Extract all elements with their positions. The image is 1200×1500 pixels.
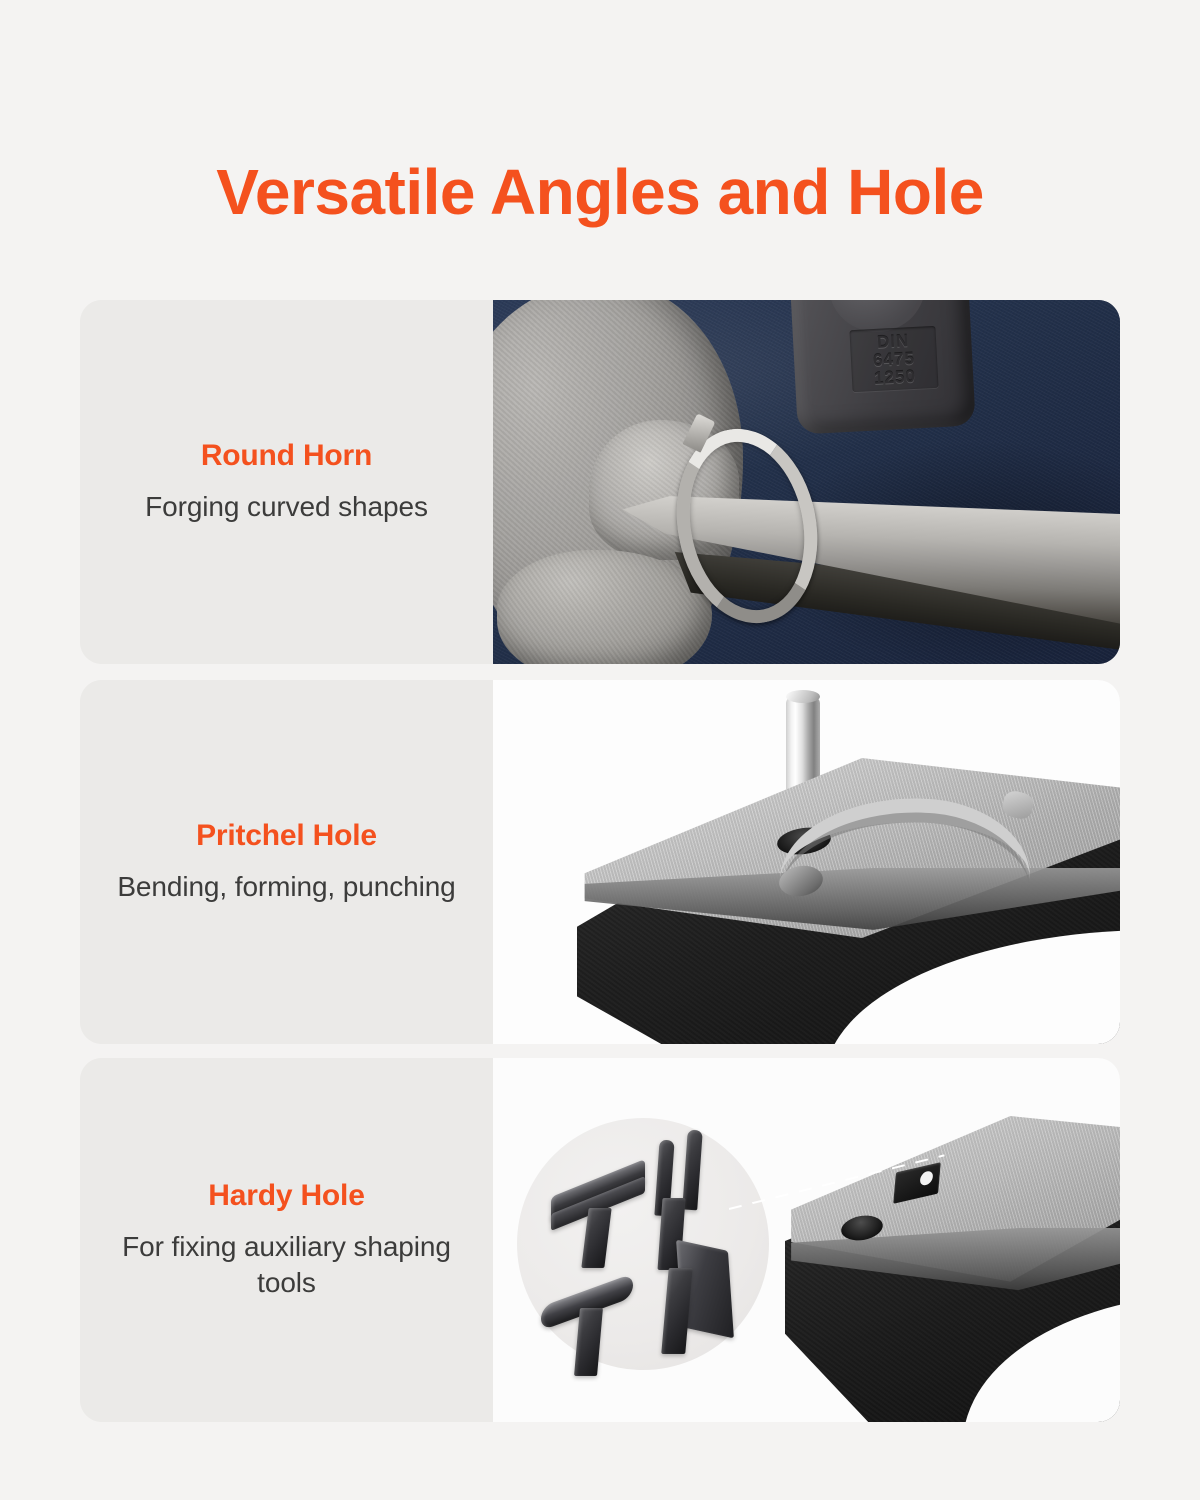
hardy-hole-photo: [493, 1058, 1120, 1422]
pritchel-hole-photo: [493, 680, 1120, 1044]
feature-card-pritchel-hole: Pritchel Hole Bending, forming, punching: [80, 680, 1120, 1044]
hammer-stamp-line-3: 1250: [874, 367, 917, 386]
card-text-round-horn: Round Horn Forging curved shapes: [80, 300, 493, 664]
card-description-round-horn: Forging curved shapes: [145, 489, 428, 525]
card-text-pritchel-hole: Pritchel Hole Bending, forming, punching: [80, 680, 493, 1044]
card-text-hardy-hole: Hardy Hole For fixing auxiliary shaping …: [80, 1058, 493, 1422]
hammer-stamp-line-2: 6475: [873, 349, 916, 368]
infographic-page: Versatile Angles and Hole Round Horn For…: [0, 0, 1200, 1500]
card-description-hardy-hole: For fixing auxiliary shaping tools: [106, 1229, 467, 1301]
page-title: Versatile Angles and Hole: [0, 158, 1200, 227]
hammer-stamp-line-1: DIN: [876, 332, 909, 351]
feature-card-round-horn: Round Horn Forging curved shapes DIN 647…: [80, 300, 1120, 664]
steel-rod-top: [786, 690, 820, 703]
hammer-stamp: DIN 6475 1250: [849, 326, 938, 392]
card-heading-hardy-hole: Hardy Hole: [208, 1179, 364, 1214]
round-swage-tool-shank: [574, 1308, 603, 1376]
round-horn-photo: DIN 6475 1250: [493, 300, 1120, 664]
feature-card-hardy-hole: Hardy Hole For fixing auxiliary shaping …: [80, 1058, 1120, 1422]
card-description-pritchel-hole: Bending, forming, punching: [117, 869, 455, 905]
card-heading-round-horn: Round Horn: [201, 439, 372, 474]
card-heading-pritchel-hole: Pritchel Hole: [196, 819, 377, 854]
